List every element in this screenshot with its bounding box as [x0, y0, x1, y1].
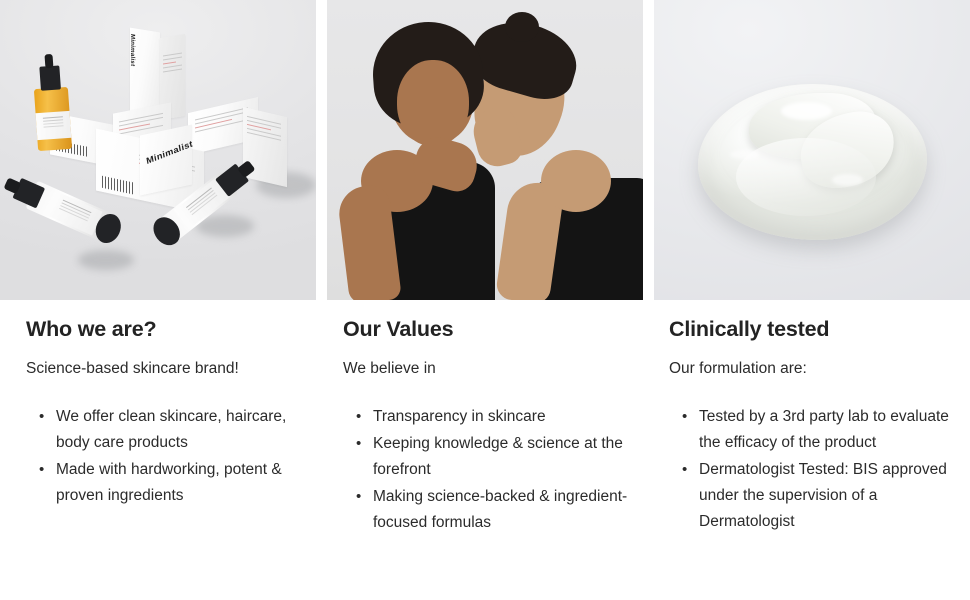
person-right-hair-bun — [505, 12, 539, 42]
bullet-list: We offer clean skincare, haircare, body … — [26, 380, 300, 509]
product-boxes-and-serum-bottles-photo: Minimalist — [0, 0, 316, 300]
column-lede: Our formulation are: — [669, 343, 970, 380]
person-left-face-front — [397, 60, 469, 146]
product-box: Minimalist — [130, 28, 160, 118]
serum-bottle-amber — [34, 87, 72, 151]
cream-highlight — [730, 150, 759, 159]
list-item: Made with hardworking, potent & proven i… — [26, 457, 300, 509]
text-block: Who we are? Science-based skincare brand… — [0, 300, 316, 510]
column-lede: Science-based skincare brand! — [26, 343, 300, 380]
column-lede: We believe in — [343, 343, 635, 380]
product-box-branded-face: Minimalist — [140, 124, 192, 195]
page-title: Who we are? — [26, 300, 300, 343]
text-block: Clinically tested Our formulation are: T… — [654, 300, 970, 536]
page-title: Clinically tested — [669, 300, 970, 343]
column-our-values: Our Values We believe in Transparency in… — [327, 0, 643, 537]
page-title: Our Values — [343, 300, 635, 343]
product-box — [243, 107, 287, 187]
text-block: Our Values We believe in Transparency in… — [327, 300, 643, 537]
cream-highlight — [781, 102, 832, 120]
cream-highlight — [832, 174, 864, 186]
person-right-shoulder — [541, 150, 611, 212]
cream-swirl-photo — [654, 0, 970, 300]
list-item: Dermatologist Tested: BIS approved under… — [669, 457, 970, 535]
brand-wordmark: Minimalist — [145, 139, 193, 166]
list-item: Keeping knowledge & science at the foref… — [343, 431, 635, 483]
two-women-portrait-photo — [327, 0, 643, 300]
bullet-list: Transparency in skincare Keeping knowled… — [343, 380, 635, 536]
list-item: Tested by a 3rd party lab to evaluate th… — [669, 404, 970, 456]
list-item: We offer clean skincare, haircare, body … — [26, 404, 300, 456]
list-item: Transparency in skincare — [343, 404, 635, 430]
column-clinically-tested: Clinically tested Our formulation are: T… — [654, 0, 970, 536]
column-who-we-are: Minimalist — [0, 0, 316, 510]
bullet-list: Tested by a 3rd party lab to evaluate th… — [669, 380, 970, 535]
list-item: Making science-backed & ingredient-focus… — [343, 484, 635, 536]
three-column-brand-section: Minimalist — [0, 0, 970, 600]
